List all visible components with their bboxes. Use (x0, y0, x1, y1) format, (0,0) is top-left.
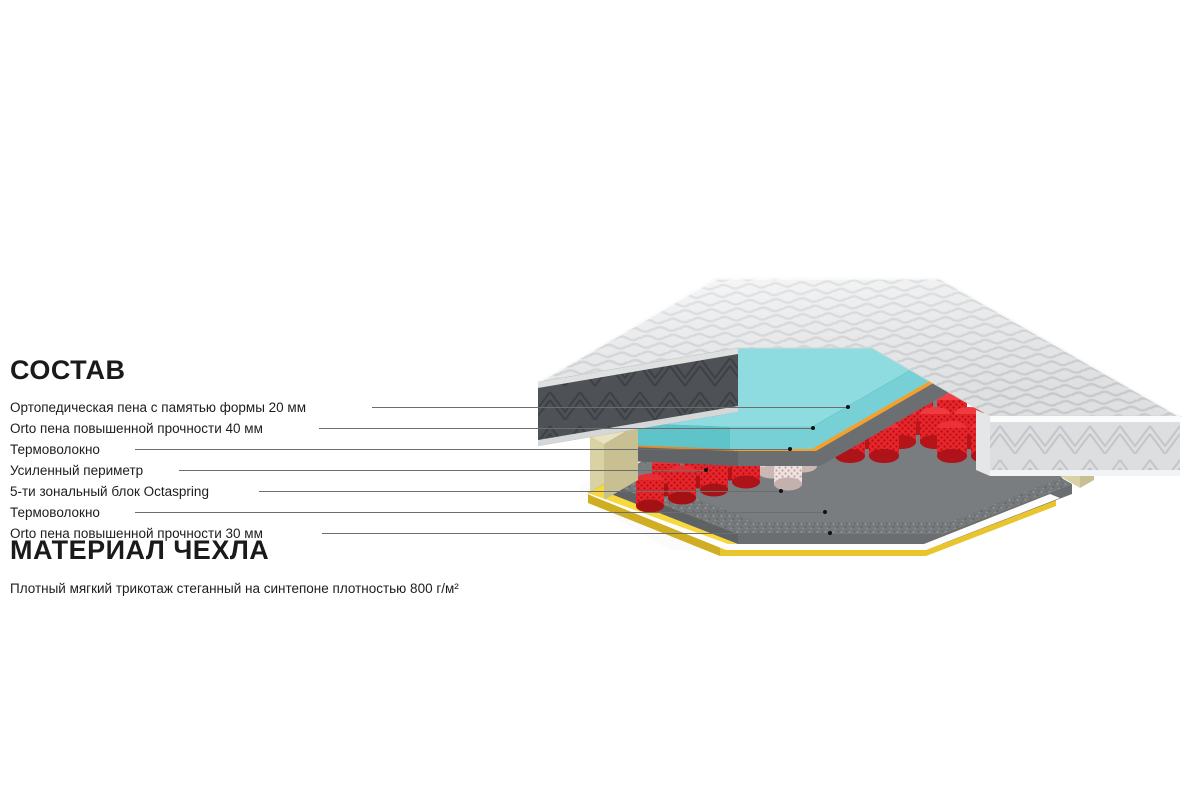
leader-dot-thermofiber-lower (823, 510, 827, 514)
spec-label-octaspring: 5-ти зональный блок Octaspring (10, 481, 209, 502)
leader-dot-orto-foam-40 (811, 426, 815, 430)
leader-line-thermofiber-lower (135, 512, 825, 513)
spec-row-octaspring: 5-ти зональный блок Octaspring (10, 481, 209, 502)
spec-row-orto-foam-30: Orto пена повышенной прочности 30 мм (10, 523, 263, 544)
page-title-composition: СОСТАВ (10, 355, 125, 386)
spec-label-memory-foam: Ортопедическая пена с памятью формы 20 м… (10, 397, 306, 418)
leader-dot-thermofiber-upper (788, 447, 792, 451)
spec-label-reinforced-perimeter: Усиленный периметр (10, 460, 143, 481)
spec-row-thermofiber-lower: Термоволокно (10, 502, 100, 523)
leader-dot-memory-foam (846, 405, 850, 409)
spec-label-thermofiber-upper: Термоволокно (10, 439, 100, 460)
leader-line-thermofiber-upper (135, 449, 790, 450)
spec-label-orto-foam-30: Orto пена повышенной прочности 30 мм (10, 523, 263, 544)
cutaway-mattress-illustration (520, 250, 1191, 560)
leader-dot-reinforced-perimeter (704, 468, 708, 472)
leader-line-memory-foam (372, 407, 848, 408)
leader-dot-orto-foam-30 (828, 531, 832, 535)
spec-row-orto-foam-40: Orto пена повышенной прочности 40 мм (10, 418, 263, 439)
spec-row-thermofiber-upper: Термоволокно (10, 439, 100, 460)
leader-line-orto-foam-40 (319, 428, 813, 429)
cover-material-description: Плотный мягкий трикотаж стеганный на син… (10, 581, 459, 596)
spec-row-reinforced-perimeter: Усиленный периметр (10, 460, 143, 481)
leader-line-orto-foam-30 (322, 533, 830, 534)
leader-dot-octaspring (779, 489, 783, 493)
leader-line-octaspring (259, 491, 781, 492)
spec-label-thermofiber-lower: Термоволокно (10, 502, 100, 523)
leader-line-reinforced-perimeter (179, 470, 706, 471)
spec-row-memory-foam: Ортопедическая пена с памятью формы 20 м… (10, 397, 306, 418)
page-root: СОСТАВ МАТЕРИАЛ ЧЕХЛА Ортопедическая пен… (0, 0, 1191, 794)
spec-label-orto-foam-40: Orto пена повышенной прочности 40 мм (10, 418, 263, 439)
side-panel-right-light (976, 410, 1180, 476)
